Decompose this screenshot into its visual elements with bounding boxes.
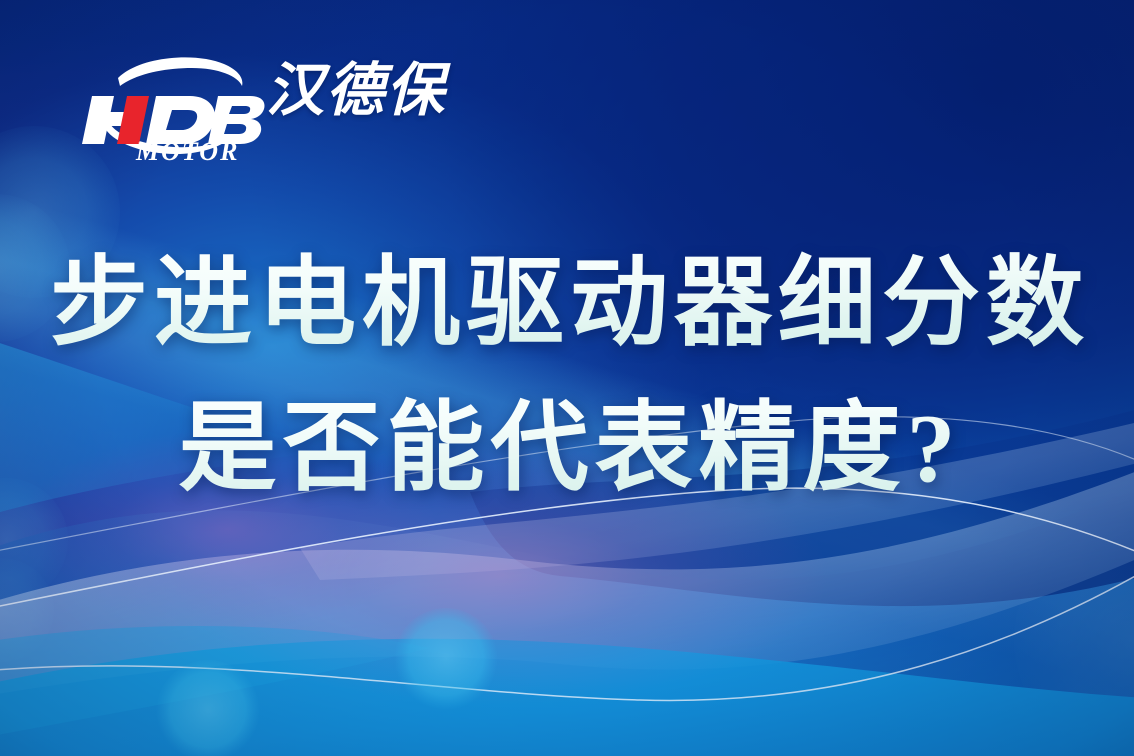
bokeh-circle-bottom-small <box>156 660 260 756</box>
brand-name-cn: 汉德保 <box>266 62 446 120</box>
headline-line-2: 是否能代表精度? <box>0 377 1134 522</box>
bokeh-circle-mid-left-b <box>0 558 54 662</box>
hdb-logo-mark-icon: MOTOR <box>78 52 268 164</box>
headline-line-1: 步进电机驱动器细分数 <box>0 232 1134 377</box>
promotional-banner: MOTOR 汉德保 步进电机驱动器细分数 是否能代表精度? <box>0 0 1134 756</box>
bokeh-circle-right-large <box>1014 522 1134 756</box>
wave-cyan-bottom-left <box>0 626 430 742</box>
headline-block: 步进电机驱动器细分数 是否能代表精度? <box>0 232 1134 522</box>
curve-line-lower <box>0 556 1134 700</box>
logo-motor-text: MOTOR <box>135 137 239 164</box>
brand-logo[interactable]: MOTOR 汉德保 <box>78 52 458 164</box>
wave-cyan-bottom <box>0 639 1134 756</box>
bokeh-circle-center-small <box>394 608 498 712</box>
